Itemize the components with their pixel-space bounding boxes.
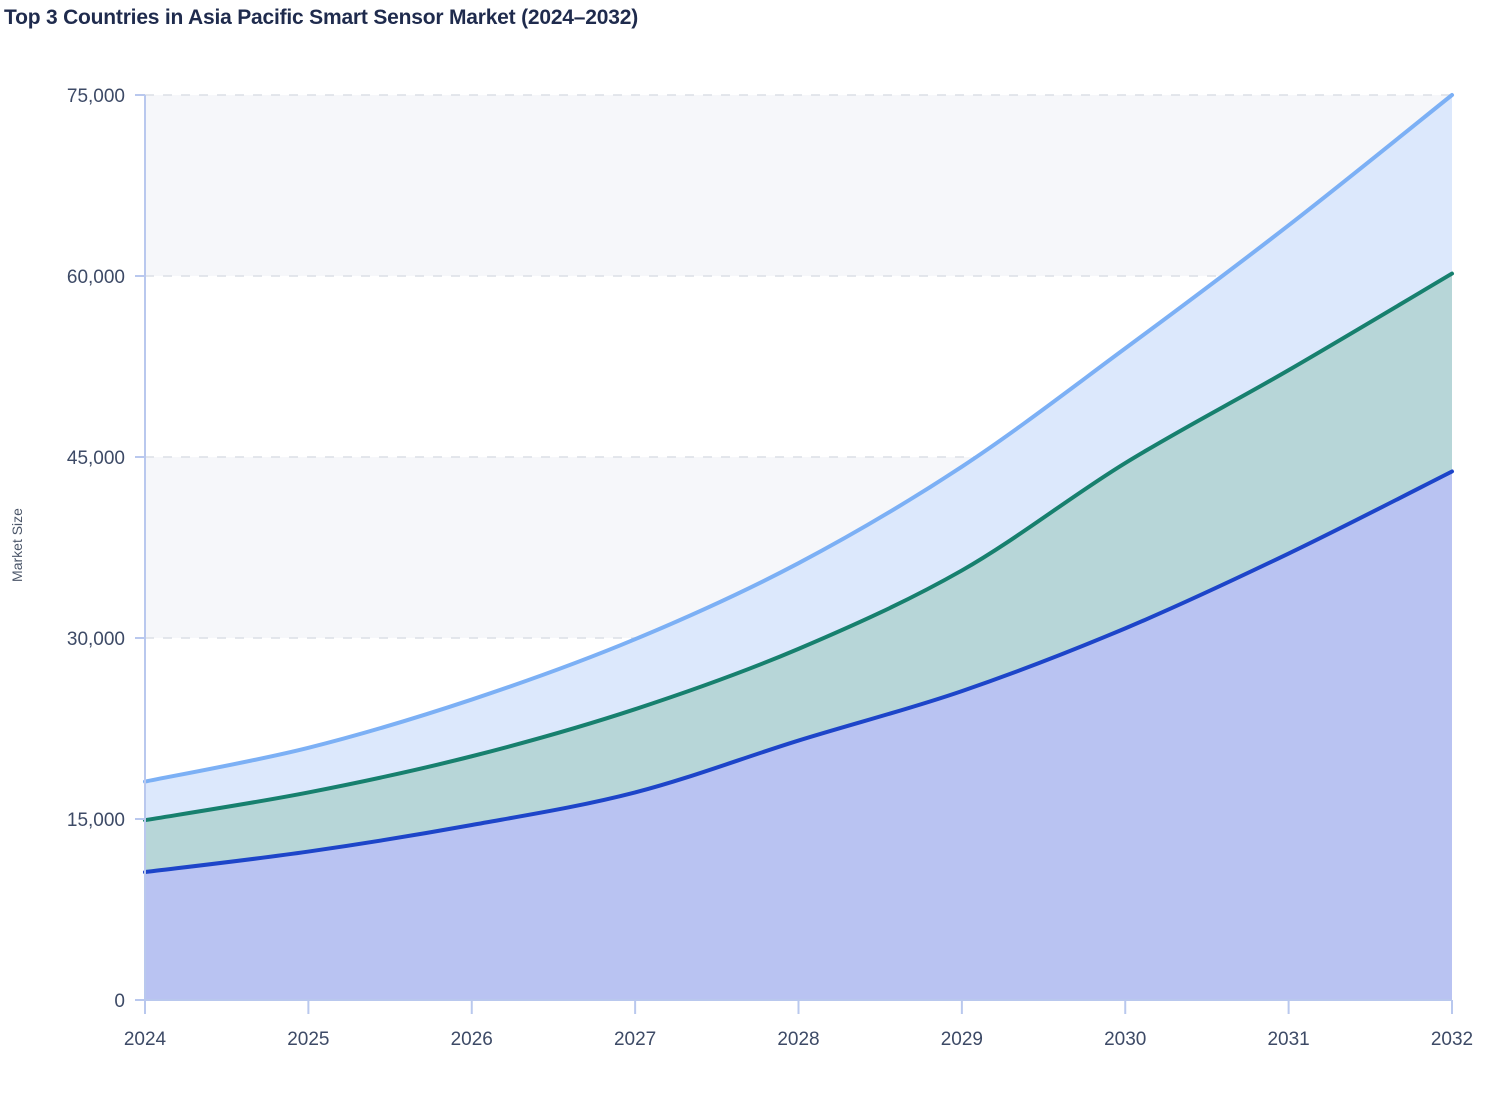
y-tick-label: 45,000 <box>67 448 125 469</box>
y-tick-label: 30,000 <box>67 629 125 650</box>
y-tick-label: 60,000 <box>67 267 125 288</box>
area-chart-svg: 015,00030,00045,00060,00075,000 20242025… <box>0 0 1508 1120</box>
y-tick-labels: 015,00030,00045,00060,00075,000 <box>67 86 125 1012</box>
x-tick-label: 2032 <box>1431 1029 1473 1050</box>
y-axis-title: Market Size <box>9 508 25 582</box>
x-tick-labels: 202420252026202720282029203020312032 <box>124 1029 1473 1050</box>
chart-area: 015,00030,00045,00060,00075,000 20242025… <box>0 0 1508 1120</box>
y-tick-label: 0 <box>114 991 125 1012</box>
y-tick-label: 75,000 <box>67 86 125 107</box>
x-tick-label: 2024 <box>124 1029 167 1050</box>
x-tick-label: 2027 <box>614 1029 656 1050</box>
x-tick-label: 2026 <box>451 1029 493 1050</box>
x-tick-label: 2030 <box>1104 1029 1146 1050</box>
x-tick-label: 2031 <box>1267 1029 1309 1050</box>
x-tick-label: 2025 <box>287 1029 329 1050</box>
y-tick-label: 15,000 <box>67 810 125 831</box>
x-tick-label: 2028 <box>777 1029 819 1050</box>
x-tick-label: 2029 <box>941 1029 983 1050</box>
